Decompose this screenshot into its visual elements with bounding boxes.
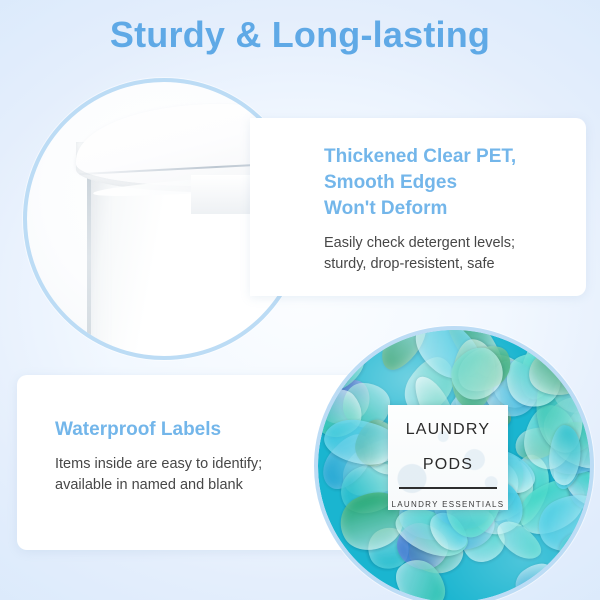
body-line: Items inside are easy to identify; — [55, 454, 262, 475]
feature-card-thickened-pet: Thickened Clear PET, Smooth Edges Won't … — [250, 118, 586, 296]
feature-body-waterproof-labels: Items inside are easy to identify; avail… — [55, 454, 262, 496]
feature-body-thickened-pet: Easily check detergent levels; sturdy, d… — [324, 233, 516, 275]
page-title: Sturdy & Long-lasting — [0, 14, 600, 56]
body-line: available in named and blank — [55, 475, 262, 496]
body-line: Easily check detergent levels; — [324, 233, 516, 254]
feature-heading-waterproof-labels: Waterproof Labels — [55, 417, 262, 443]
photo-ring-laundry-pods — [314, 326, 594, 600]
feature-heading-thickened-pet: Thickened Clear PET, Smooth Edges Won't … — [324, 144, 516, 222]
heading-line: Thickened Clear PET, — [324, 144, 516, 170]
body-line: sturdy, drop-resistent, safe — [324, 254, 516, 275]
heading-line: Waterproof Labels — [55, 417, 262, 443]
heading-line: Smooth Edges — [324, 170, 516, 196]
product-feature-banner: Sturdy & Long-lasting Thickened Clear PE… — [0, 0, 600, 600]
heading-line: Won't Deform — [324, 196, 516, 222]
